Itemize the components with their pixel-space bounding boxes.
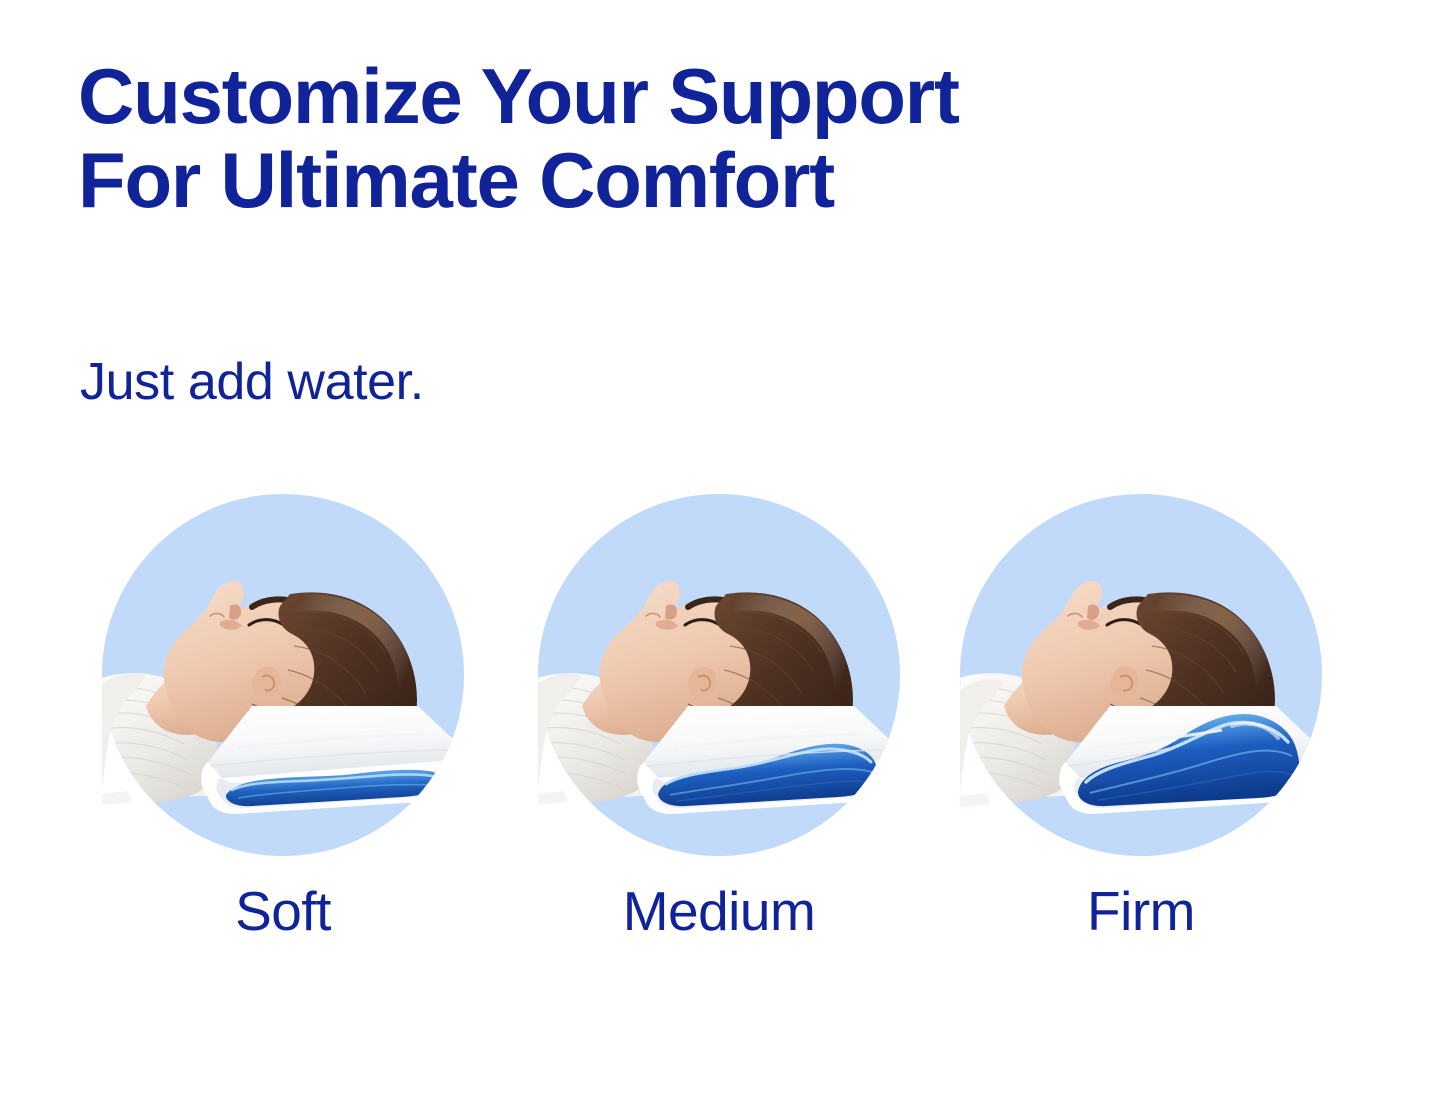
firmness-options: Soft <box>0 494 1445 994</box>
page-title: Customize Your Support For Ultimate Comf… <box>78 54 1198 222</box>
woman-on-water-pillow-illustration-medium <box>538 494 900 856</box>
firmness-option-firm[interactable]: Firm <box>960 494 1322 994</box>
woman-on-water-pillow-illustration-firm <box>960 494 1322 856</box>
option-label-firm: Firm <box>960 884 1322 939</box>
option-image-circle-medium <box>538 494 900 856</box>
option-image-circle-firm <box>960 494 1322 856</box>
option-label-soft: Soft <box>102 884 464 939</box>
firmness-option-soft[interactable]: Soft <box>102 494 464 994</box>
firmness-option-medium[interactable]: Medium <box>538 494 900 994</box>
option-image-circle-soft <box>102 494 464 856</box>
option-label-medium: Medium <box>538 884 900 939</box>
page-subtitle: Just add water. <box>80 354 424 411</box>
woman-on-water-pillow-illustration-soft <box>102 494 464 856</box>
